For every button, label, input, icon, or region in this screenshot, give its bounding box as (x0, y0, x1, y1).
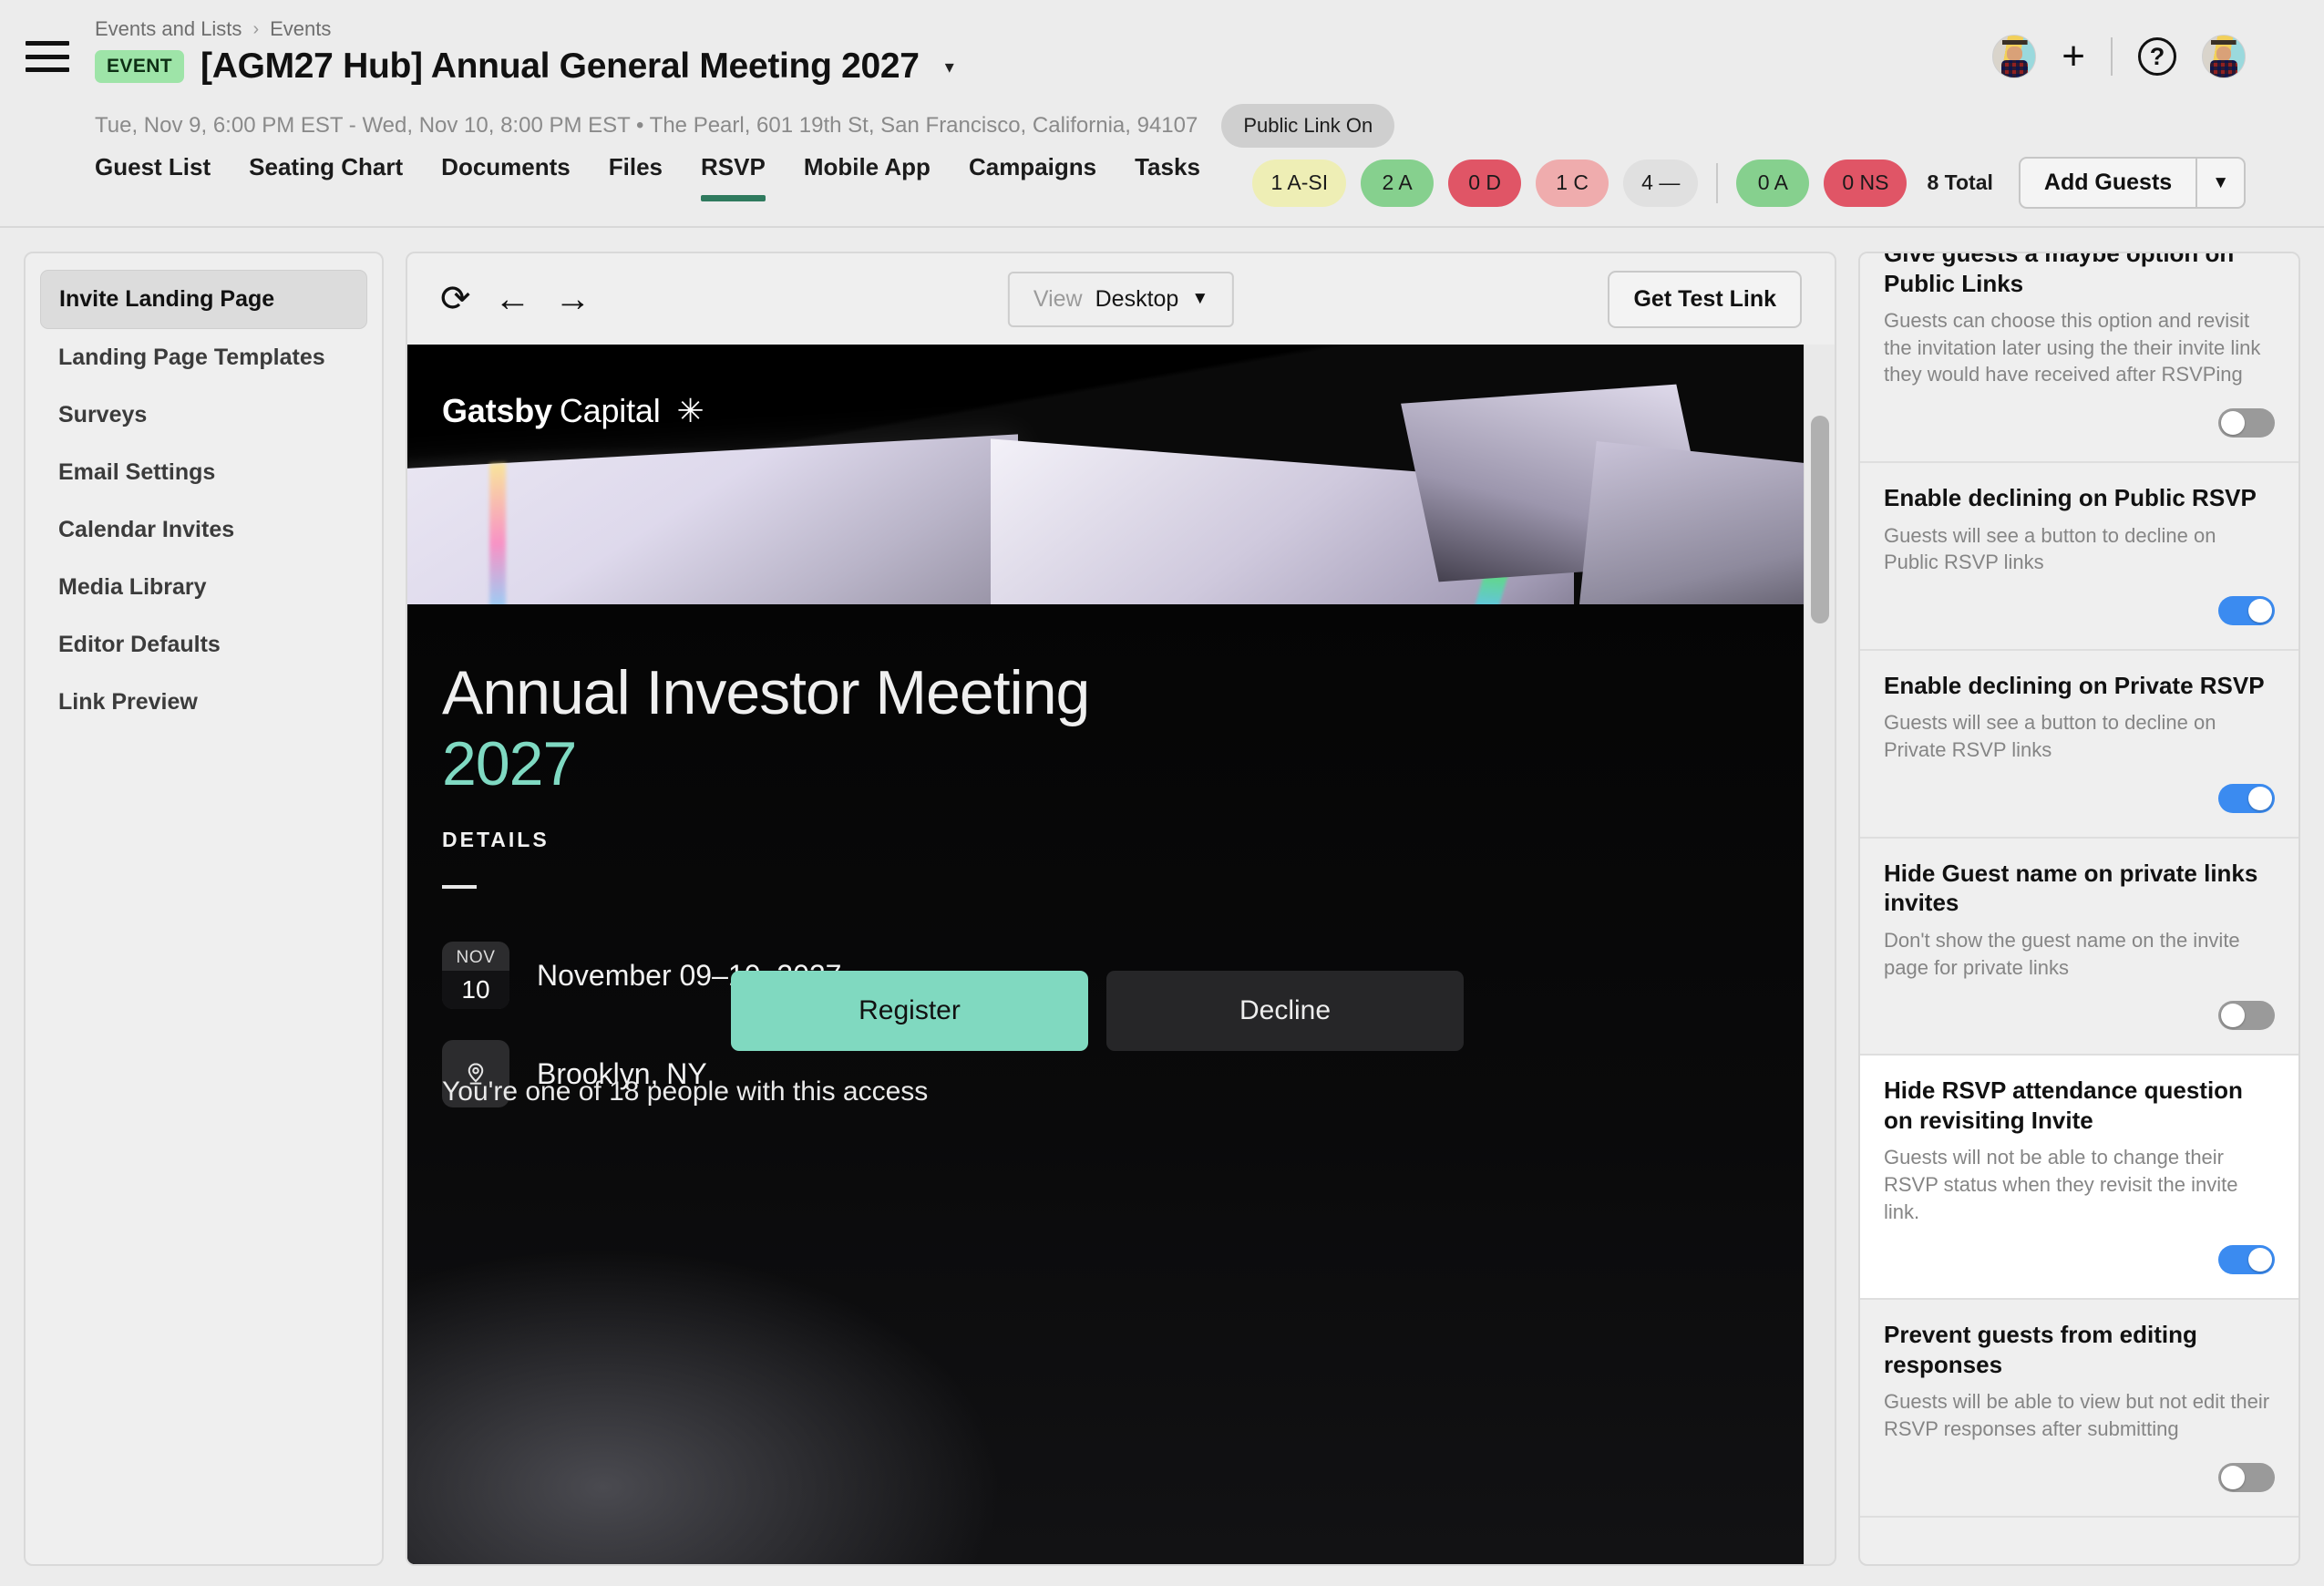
sidebar-item-editor-defaults[interactable]: Editor Defaults (40, 616, 367, 674)
get-test-link-button[interactable]: Get Test Link (1608, 271, 1802, 328)
invite-preview-canvas: Gatsby Capital ✳ Annual Investor Meeting… (407, 345, 1804, 1564)
chevron-down-icon: ▼ (1191, 289, 1208, 309)
view-mode-value: Desktop (1095, 286, 1179, 313)
view-mode-label: View (1033, 286, 1083, 313)
stats-total: 8 Total (1927, 170, 1992, 195)
forward-arrow-icon[interactable]: → (555, 281, 591, 317)
tab-seating-chart[interactable]: Seating Chart (249, 153, 403, 201)
tab-documents[interactable]: Documents (441, 153, 571, 201)
stats-divider (1716, 163, 1718, 203)
prism-shape-d (1575, 441, 1804, 604)
setting-prevent-editing-responses: Prevent guests from editing responses Gu… (1860, 1300, 2298, 1517)
setting-title: Enable declining on Private RSVP (1884, 671, 2275, 701)
page-title-row: EVENT [AGM27 Hub] Annual General Meeting… (95, 46, 954, 87)
sidebar-item-link-preview[interactable]: Link Preview (40, 674, 367, 731)
page-body: Invite Landing Page Landing Page Templat… (0, 230, 2324, 1586)
event-meta-row: Tue, Nov 9, 6:00 PM EST - Wed, Nov 10, 8… (95, 104, 1394, 148)
setting-toggle-wrap (1884, 596, 2275, 625)
preview-toolbar: ⟳ ← → View Desktop ▼ Get Test Link (407, 253, 1835, 345)
toggle-knob (2248, 599, 2272, 623)
tab-mobile-app[interactable]: Mobile App (804, 153, 931, 201)
toggle-knob (2248, 1248, 2272, 1272)
prism-shape-a (407, 434, 1018, 604)
main-tabs: Guest List Seating Chart Documents Files… (95, 153, 1200, 201)
sidebar: Invite Landing Page Landing Page Templat… (24, 252, 384, 1566)
setting-toggle-wrap (1884, 1463, 2275, 1492)
decline-button[interactable]: Decline (1106, 971, 1464, 1051)
stat-pill-declined[interactable]: 0 D (1448, 160, 1521, 207)
invite-hero-image: Gatsby Capital ✳ (407, 345, 1804, 604)
add-guests-button[interactable]: Add Guests ▼ (2019, 157, 2246, 209)
preview-scrollbar-thumb[interactable] (1811, 416, 1829, 623)
sidebar-item-surveys[interactable]: Surveys (40, 386, 367, 444)
setting-description: Guests can choose this option and revisi… (1884, 307, 2275, 388)
hamburger-menu-icon[interactable] (26, 41, 69, 72)
setting-description: Guests will not be able to change their … (1884, 1144, 2275, 1225)
toggle-prevent-editing-responses[interactable] (2218, 1463, 2275, 1492)
add-icon[interactable]: + (2062, 36, 2085, 77)
toggle-knob (2221, 411, 2245, 435)
back-arrow-icon[interactable]: ← (495, 281, 531, 317)
tab-tasks[interactable]: Tasks (1135, 153, 1200, 201)
toggle-knob (2221, 1466, 2245, 1489)
setting-description: Guests will see a button to decline on P… (1884, 709, 2275, 763)
public-link-status-badge[interactable]: Public Link On (1221, 104, 1394, 148)
toggle-enable-declining-private-rsvp[interactable] (2218, 784, 2275, 813)
toggle-knob (2221, 1004, 2245, 1027)
invite-body: Annual Investor Meeting 2027 DETAILS NOV… (407, 604, 1804, 1564)
setting-toggle-wrap (1884, 1245, 2275, 1274)
setting-maybe-option-public-links: Give guests a maybe option on Public Lin… (1860, 252, 2298, 463)
app-header: Events and Lists › Events EVENT [AGM27 H… (0, 0, 2324, 228)
rsvp-stat-pills: 1 A-SI 2 A 0 D 1 C 4 — 0 A 0 NS 8 Total … (1252, 157, 2246, 209)
refresh-icon[interactable]: ⟳ (440, 281, 471, 317)
stat-pill-cancelled[interactable]: 1 C (1536, 160, 1609, 207)
setting-enable-declining-public-rsvp: Enable declining on Public RSVP Guests w… (1860, 463, 2298, 651)
setting-hide-rsvp-attendance-question: Hide RSVP attendance question on revisit… (1860, 1056, 2298, 1300)
toggle-hide-guest-name-private-links[interactable] (2218, 1001, 2275, 1030)
setting-description: Guests will see a button to decline on P… (1884, 522, 2275, 576)
setting-toggle-wrap (1884, 1001, 2275, 1030)
setting-title: Hide Guest name on private links invites (1884, 859, 2275, 918)
user-avatar[interactable] (2202, 35, 2246, 78)
sidebar-item-calendar-invites[interactable]: Calendar Invites (40, 501, 367, 559)
invite-title: Annual Investor Meeting (442, 661, 1089, 726)
header-divider (2111, 37, 2113, 76)
stat-pill-accepted[interactable]: 2 A (1361, 160, 1434, 207)
setting-title: Hide RSVP attendance question on revisit… (1884, 1076, 2275, 1135)
tab-campaigns[interactable]: Campaigns (969, 153, 1096, 201)
setting-description: Guests will be able to view but not edit… (1884, 1388, 2275, 1442)
setting-enable-declining-private-rsvp: Enable declining on Private RSVP Guests … (1860, 651, 2298, 839)
rsvp-settings-panel: Give guests a maybe option on Public Lin… (1858, 252, 2300, 1566)
chevron-down-icon[interactable]: ▾ (945, 56, 954, 78)
tab-rsvp[interactable]: RSVP (701, 153, 766, 201)
date-card-month: NOV (457, 942, 496, 971)
page-title: [AGM27 Hub] Annual General Meeting 2027 (201, 46, 920, 87)
preview-nav-icons: ⟳ ← → (440, 281, 591, 317)
date-card: NOV 10 (442, 942, 509, 1009)
setting-hide-guest-name-private-links: Hide Guest name on private links invites… (1860, 839, 2298, 1056)
invite-canvas-holder: Gatsby Capital ✳ Annual Investor Meeting… (407, 345, 1835, 1564)
event-type-badge: EVENT (95, 50, 184, 83)
preview-scrollbar[interactable] (1804, 345, 1835, 1564)
toggle-knob (2248, 787, 2272, 810)
invite-access-note: You're one of 18 people with this access (442, 1076, 928, 1107)
sidebar-item-invite-landing-page[interactable]: Invite Landing Page (40, 270, 367, 329)
brand-name-bold: Gatsby (442, 392, 552, 430)
setting-description: Don't show the guest name on the invite … (1884, 927, 2275, 981)
toggle-hide-rsvp-attendance-question[interactable] (2218, 1245, 2275, 1274)
brand-asterisk-icon: ✳ (677, 392, 704, 430)
register-button[interactable]: Register (731, 971, 1088, 1051)
setting-toggle-wrap (1884, 784, 2275, 813)
tab-guest-list[interactable]: Guest List (95, 153, 211, 201)
sidebar-item-landing-page-templates[interactable]: Landing Page Templates (40, 329, 367, 386)
setting-title: Public Links (1884, 269, 2275, 299)
tab-files[interactable]: Files (609, 153, 663, 201)
date-card-day: 10 (442, 971, 509, 1009)
invite-details-heading: DETAILS (442, 828, 550, 852)
avatar[interactable] (1992, 35, 2036, 78)
stat-pill-no-show[interactable]: 0 NS (1824, 160, 1907, 207)
breadcrumb-item-events-and-lists[interactable]: Events and Lists (95, 17, 242, 41)
help-icon[interactable]: ? (2138, 37, 2176, 76)
chevron-down-icon[interactable]: ▼ (2195, 159, 2244, 207)
header-actions: + ? (1992, 35, 2246, 78)
view-mode-select[interactable]: View Desktop ▼ (1008, 272, 1234, 327)
setting-toggle-wrap (1884, 408, 2275, 438)
sidebar-item-email-settings[interactable]: Email Settings (40, 444, 367, 501)
breadcrumb-item-events[interactable]: Events (270, 17, 331, 41)
sidebar-item-media-library[interactable]: Media Library (40, 559, 367, 616)
stat-pill-attended[interactable]: 0 A (1736, 160, 1809, 207)
add-guests-label: Add Guests (2021, 159, 2195, 207)
preview-pane: ⟳ ← → View Desktop ▼ Get Test Link Gat (406, 252, 1836, 1566)
setting-title: Prevent guests from editing responses (1884, 1320, 2275, 1379)
toggle-enable-declining-public-rsvp[interactable] (2218, 596, 2275, 625)
stat-pill-no-response[interactable]: 4 — (1623, 160, 1698, 207)
invite-year: 2027 (442, 732, 576, 797)
invite-details-rule (442, 885, 477, 889)
brand-name-light: Capital (560, 392, 661, 430)
setting-title: Enable declining on Public RSVP (1884, 483, 2275, 513)
toggle-maybe-option-public-links[interactable] (2218, 408, 2275, 438)
breadcrumb: Events and Lists › Events (95, 17, 331, 41)
invite-brand-logo: Gatsby Capital ✳ (442, 392, 704, 430)
event-datetime-location: Tue, Nov 9, 6:00 PM EST - Wed, Nov 10, 8… (95, 113, 1198, 139)
invite-cta-row: Register Decline (731, 971, 1464, 1051)
setting-title-clipped: Give guests a maybe option on (1884, 252, 2275, 269)
breadcrumb-separator-icon: › (252, 19, 259, 40)
stat-pill-awaiting-seat-invite[interactable]: 1 A-SI (1252, 160, 1346, 207)
